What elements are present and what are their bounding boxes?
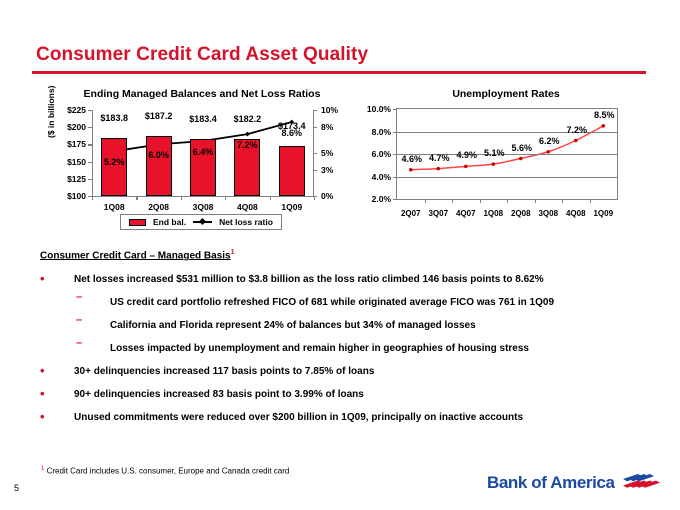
left-chart-y2-tick (313, 127, 317, 128)
right-chart-x-tick (590, 199, 591, 203)
right-chart-plot-area: 2.0%4.0%6.0%8.0%10.0%2Q074.6%3Q074.7%4Q0… (396, 108, 618, 200)
bullet-item: –US credit card portfolio refreshed FICO… (40, 292, 640, 315)
right-chart-y-tick-label: 6.0% (372, 149, 391, 159)
right-chart-y-tick-label: 8.0% (372, 127, 391, 137)
left-chart-y-tick-label: $150 (67, 157, 86, 167)
right-chart-x-category: 1Q08 (483, 209, 503, 218)
page-title: Consumer Credit Card Asset Quality (36, 44, 368, 66)
bullet-text: California and Florida represent 24% of … (110, 320, 476, 331)
right-chart-x-category: 2Q07 (401, 209, 421, 218)
right-chart-gridline (397, 177, 617, 178)
left-chart-y-tick (88, 127, 92, 128)
left-chart-y2-tick-label: 8% (321, 122, 333, 132)
legend-net-loss-ratio-icon (193, 218, 212, 226)
left-chart-x-axis-line (92, 196, 314, 197)
right-chart-x-category: 1Q09 (593, 209, 613, 218)
left-chart-x-tick (136, 196, 137, 200)
left-chart-y-tick (88, 144, 92, 145)
section-heading-superscript: 1 (231, 249, 235, 256)
right-chart-x-tick (452, 199, 453, 203)
unemployment-rate-label: 5.6% (511, 143, 532, 153)
footnote: 1 Credit Card includes U.S. consumer, Eu… (41, 466, 289, 476)
right-chart-y-tick (393, 109, 397, 110)
left-chart-legend: End bal. Net loss ratio (120, 214, 282, 230)
bullet-text: US credit card portfolio refreshed FICO … (110, 297, 554, 308)
right-chart-x-category: 4Q08 (566, 209, 586, 218)
left-chart-x-tick (92, 196, 93, 200)
left-chart-y-tick-label: $100 (67, 191, 86, 201)
bullet-item: –Losses impacted by unemployment and rem… (40, 338, 640, 361)
right-chart-x-tick (535, 199, 536, 203)
net-loss-ratio-label: 7.2% (237, 140, 258, 150)
right-chart-y-tick-label: 10.0% (367, 104, 391, 114)
bar-value-label: $187.2 (145, 111, 173, 121)
right-chart-y-tick (393, 132, 397, 133)
right-chart-x-category: 3Q07 (428, 209, 448, 218)
left-chart-y-tick-label: $125 (67, 174, 86, 184)
right-chart-title: Unemployment Rates (356, 88, 656, 100)
bullet-marker: – (76, 292, 82, 303)
bullet-item: –California and Florida represent 24% of… (40, 315, 640, 338)
slide-canvas: Consumer Credit Card Asset Quality Endin… (0, 0, 680, 510)
bullet-text: Unused commitments were reduced over $20… (74, 412, 523, 423)
left-chart-y-tick (88, 162, 92, 163)
right-chart-x-category: 4Q07 (456, 209, 476, 218)
unemployment-rate-label: 4.9% (456, 150, 477, 160)
unemployment-rate-label: 5.1% (484, 148, 505, 158)
flag-icon (621, 472, 661, 493)
bar-value-label: $183.4 (189, 114, 217, 124)
bullet-marker: – (76, 338, 82, 349)
left-chart-title: Ending Managed Balances and Net Loss Rat… (52, 88, 352, 100)
left-chart-plot-area: $100$125$150$175$200$2250%3%5%8%10%$183.… (92, 110, 314, 196)
bullet-marker: • (40, 272, 45, 285)
right-chart-y-tick-label: 2.0% (372, 194, 391, 204)
right-chart-x-tick (562, 199, 563, 203)
left-chart-y-tick-label: $225 (67, 105, 86, 115)
bullet-marker: – (76, 315, 82, 326)
legend-net-loss-ratio-label: Net loss ratio (219, 217, 273, 227)
unemployment-rate-label: 6.2% (539, 136, 560, 146)
bullet-marker: • (40, 364, 45, 377)
unemployment-rate-label: 4.7% (429, 153, 450, 163)
page-number: 5 (14, 483, 19, 493)
footnote-marker: 1 (41, 466, 44, 472)
net-loss-ratio-label: 8.6% (282, 128, 303, 138)
section-heading: Consumer Credit Card – Managed Basis1 (40, 249, 235, 261)
bullet-text: 30+ delinquencies increased 117 basis po… (74, 366, 374, 377)
right-chart-x-tick (480, 199, 481, 203)
left-chart-x-category: 1Q09 (281, 202, 302, 212)
title-divider (32, 71, 646, 74)
left-chart-x-category: 4Q08 (237, 202, 258, 212)
bullet-text: 90+ delinquencies increased 83 basis poi… (74, 389, 364, 400)
table-row (146, 136, 172, 196)
bullet-item: •90+ delinquencies increased 83 basis po… (40, 384, 640, 407)
left-chart-x-category: 2Q08 (148, 202, 169, 212)
bullet-list: •Net losses increased $531 million to $3… (40, 269, 640, 430)
table-row (279, 146, 305, 196)
bullet-marker: • (40, 387, 45, 400)
left-chart-y-axis-title: ($ in billions) (46, 86, 56, 138)
logo-text: Bank of America (487, 473, 615, 493)
left-chart-y2-tick-label: 10% (321, 105, 338, 115)
unemployment-rate-label: 7.2% (566, 125, 587, 135)
left-chart-y-tick-label: $200 (67, 122, 86, 132)
left-chart-y-tick (88, 179, 92, 180)
legend-end-bal-swatch (129, 219, 146, 226)
left-chart-y2-tick-label: 3% (321, 165, 333, 175)
right-chart-y-tick-label: 4.0% (372, 172, 391, 182)
net-loss-ratio-label: 5.2% (104, 157, 125, 167)
left-chart-y2-tick (313, 110, 317, 111)
bullet-marker: • (40, 410, 45, 423)
left-chart-x-category: 3Q08 (193, 202, 214, 212)
left-chart-x-tick (314, 196, 315, 200)
right-chart-x-category: 2Q08 (511, 209, 531, 218)
right-chart-y-tick (393, 177, 397, 178)
bar-value-label: $182.2 (234, 114, 262, 124)
legend-end-bal-label: End bal. (153, 217, 186, 227)
bullet-text: Net losses increased $531 million to $3.… (74, 274, 544, 285)
left-chart-x-category: 1Q08 (104, 202, 125, 212)
right-chart-x-tick (425, 199, 426, 203)
right-chart-x-tick (507, 199, 508, 203)
right-chart-y-tick (393, 154, 397, 155)
right-chart-x-category: 3Q08 (538, 209, 558, 218)
unemployment-rates-chart: Unemployment Rates 2.0%4.0%6.0%8.0%10.0%… (356, 88, 656, 238)
left-chart-y2-tick-label: 5% (321, 148, 333, 158)
unemployment-rate-label: 8.5% (594, 110, 615, 120)
left-chart-x-tick (225, 196, 226, 200)
ending-managed-balances-chart: Ending Managed Balances and Net Loss Rat… (52, 88, 352, 238)
net-loss-ratio-label: 6.0% (148, 150, 169, 160)
right-chart-y-tick (393, 199, 397, 200)
unemployment-rate-label: 4.6% (401, 154, 422, 164)
left-chart-x-tick (181, 196, 182, 200)
left-chart-y2-tick-label: 0% (321, 191, 333, 201)
left-chart-y2-tick (313, 170, 317, 171)
bullet-item: •Net losses increased $531 million to $3… (40, 269, 640, 292)
section-heading-text: Consumer Credit Card – Managed Basis (40, 250, 231, 261)
left-chart-y2-tick (313, 153, 317, 154)
net-loss-ratio-label: 6.4% (193, 147, 214, 157)
left-chart-y-tick (88, 110, 92, 111)
bullet-item: •Unused commitments were reduced over $2… (40, 407, 640, 430)
bullet-item: •30+ delinquencies increased 117 basis p… (40, 361, 640, 384)
bullet-text: Losses impacted by unemployment and rema… (110, 343, 529, 354)
bar-value-label: $183.8 (100, 113, 128, 123)
left-chart-y-tick-label: $175 (67, 139, 86, 149)
footnote-text: Credit Card includes U.S. consumer, Euro… (47, 467, 290, 476)
bank-of-america-logo: Bank of America (487, 472, 661, 493)
left-chart-x-tick (270, 196, 271, 200)
